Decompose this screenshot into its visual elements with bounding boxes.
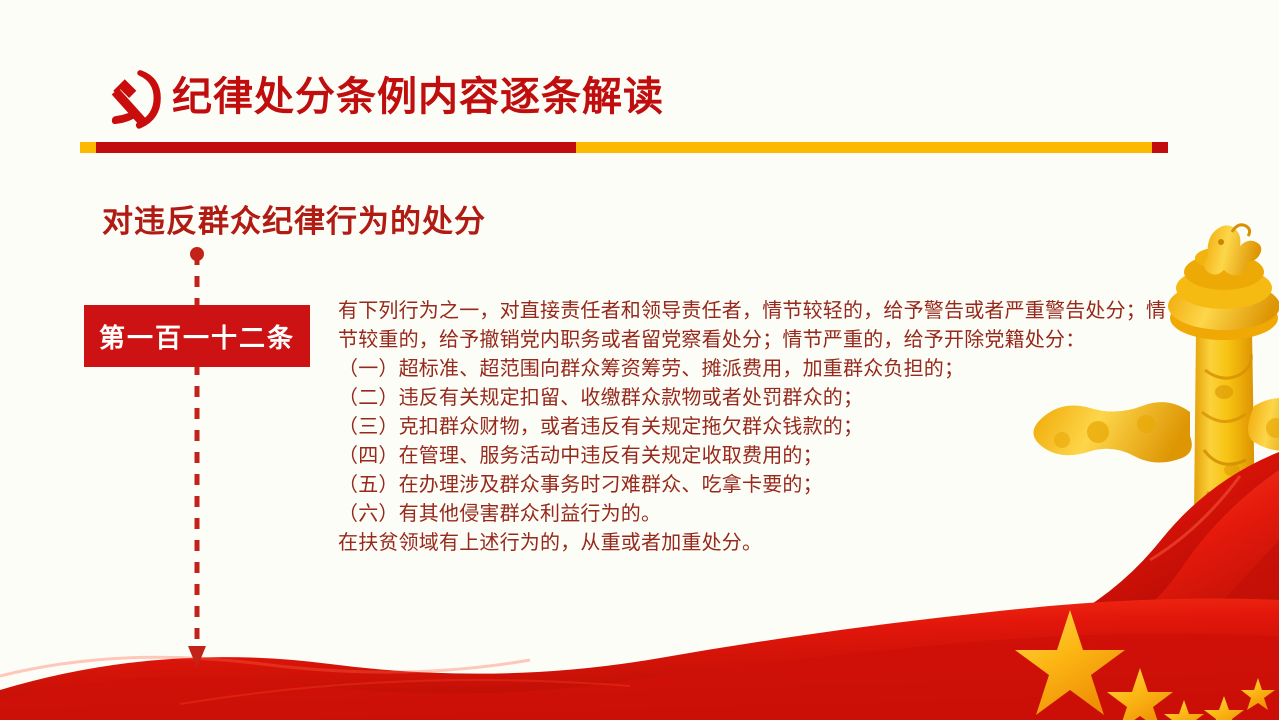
slide-header: 纪律处分条例内容逐条解读 (0, 0, 1279, 160)
clause-item: （一）超标准、超范围向群众筹资筹劳、摊派费用，加重群众负担的； (338, 354, 1176, 383)
star-small-3 (1241, 678, 1275, 710)
article-number-label: 第一百一十二条 (99, 318, 295, 355)
closing-paragraph: 在扶贫领域有上述行为的，从重或者加重处分。 (338, 528, 1176, 557)
cpc-hammer-sickle-emblem (96, 62, 168, 134)
page-title: 纪律处分条例内容逐条解读 (172, 70, 664, 124)
star-medium (1107, 668, 1173, 720)
golden-stars (1015, 610, 1275, 720)
clause-item: （六）有其他侵害群众利益行为的。 (338, 499, 1176, 528)
clause-list: （一）超标准、超范围向群众筹资筹劳、摊派费用，加重群众负担的； （二）违反有关规… (338, 354, 1176, 528)
star-large (1015, 610, 1125, 715)
clause-item: （三）克扣群众财物，或者违反有关规定拖欠群众钱款的； (338, 412, 1176, 441)
header-divider-bar (80, 142, 1168, 153)
clause-item: （二）违反有关规定扣留、收缴群众款物或者处罚群众的； (338, 383, 1176, 412)
divider-segment-yellow-main (576, 142, 1152, 153)
clause-item: （四）在管理、服务活动中违反有关规定收取费用的； (338, 441, 1176, 470)
section-heading: 对违反群众纪律行为的处分 (102, 196, 486, 241)
slide-canvas: 纪律处分条例内容逐条解读 对违反群众纪律行为的处分 第一百一十二条 有下列行为之… (0, 0, 1279, 720)
divider-segment-red-main (96, 142, 576, 153)
divider-segment-yellow-left (80, 142, 96, 153)
intro-paragraph: 有下列行为之一，对直接责任者和领导责任者，情节较轻的，给予警告或者严重警告处分；… (338, 296, 1176, 354)
clause-item: （五）在办理涉及群众事务时刁难群众、吃拿卡要的； (338, 470, 1176, 499)
star-small-1 (1164, 700, 1204, 720)
article-number-badge[interactable]: 第一百一十二条 (84, 305, 310, 367)
star-small-2 (1204, 696, 1244, 720)
divider-segment-red-right (1152, 142, 1168, 153)
article-body: 有下列行为之一，对直接责任者和领导责任者，情节较轻的，给予警告或者严重警告处分；… (338, 296, 1176, 557)
